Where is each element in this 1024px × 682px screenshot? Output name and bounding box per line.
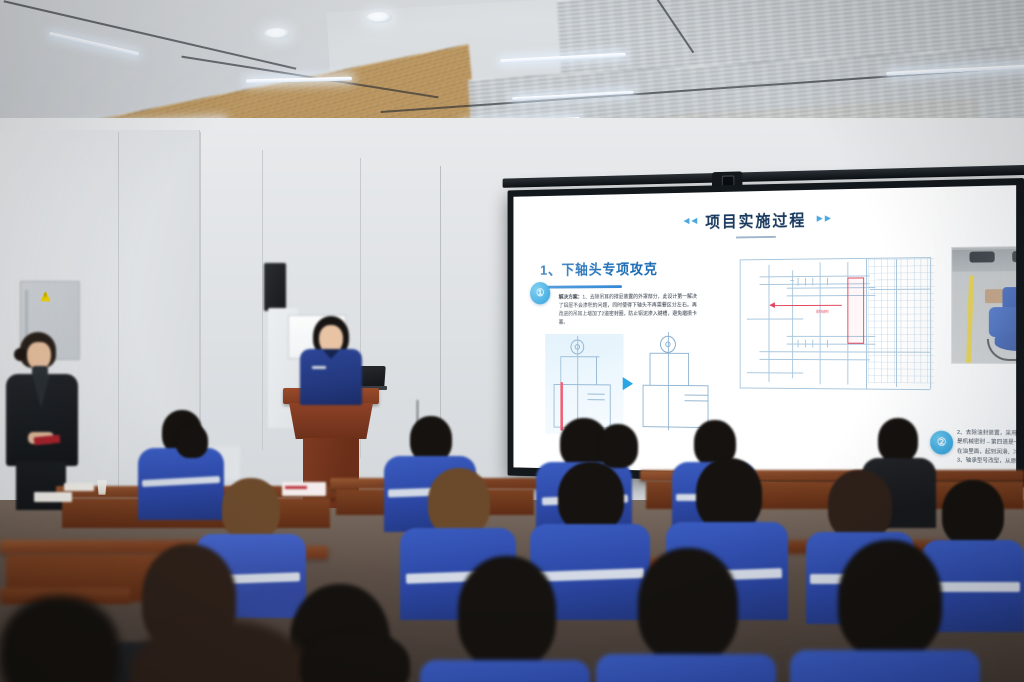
wall-speaker	[264, 263, 286, 311]
audience-head	[696, 458, 762, 530]
audience-head	[878, 418, 918, 462]
audience-member	[176, 424, 210, 460]
audience-head	[176, 424, 208, 458]
audience-head	[638, 548, 738, 662]
audience-head	[558, 462, 624, 532]
audience-member	[790, 540, 980, 682]
drawing-red-annotation: 密封结构	[816, 308, 828, 313]
presenter-badge	[312, 366, 326, 369]
handout-paper	[34, 492, 72, 502]
solution-lead-in: 解决方案：	[559, 294, 583, 300]
solution-body-three: 3、轴承型号改型，从原设计的7330E、7536E更换为现型号30330、322…	[957, 458, 1016, 469]
slide-left-column: 1、下轴头专项攻克 ① 解决方案：1、去除吊耳的排尼装置的外罩部分，此设计第一解…	[527, 244, 724, 327]
double-arrow-right-icon: ►►	[815, 213, 831, 225]
section-heading: 1、下轴头专项攻克	[540, 257, 723, 279]
double-arrow-left-icon: ◄◄	[682, 215, 698, 227]
bullet-badge-one: ①	[530, 282, 550, 304]
floor-marking-line	[966, 275, 974, 364]
audience-member	[300, 630, 420, 682]
wall-seam	[262, 150, 263, 450]
audience-member	[100, 620, 320, 682]
equipment-photo	[951, 245, 1016, 364]
audience-head	[838, 540, 942, 658]
audience-head	[942, 480, 1004, 546]
solution-paragraph-one: 解决方案：1、去除吊耳的排尼装置的外罩部分，此设计第一解决了铝层不会渗积的问题，…	[559, 293, 697, 327]
solution-paragraph-two-three: 2、去除油封装置，采用多路密封保护轴头，采用4道密封结构：第一道是2个油封串联→…	[957, 429, 1016, 473]
audience-head	[300, 630, 410, 682]
audience-head	[222, 478, 280, 540]
audience-member	[420, 556, 590, 682]
wall-seam	[118, 132, 119, 512]
solution-body-two: 2、去除油封装置，采用多路密封保护轴头，采用4道密封结构：第一道是2个油封串联→…	[957, 430, 1016, 457]
audience-head	[428, 468, 490, 536]
audience-member	[596, 548, 776, 682]
improvement-arrow-icon	[623, 377, 633, 390]
podium-front-panel	[289, 403, 373, 439]
conference-room-photo: ◄◄ 项目实施过程 ►► 1、下轴头专项攻克 ① 解决方案：1、去除吊耳的排尼装…	[0, 0, 1024, 682]
slide-header: ◄◄ 项目实施过程 ►►	[527, 203, 1003, 235]
engineering-drawing-main: 密封结构	[733, 249, 942, 397]
notebook	[64, 483, 94, 491]
slide-body: 1、下轴头专项攻克 ① 解决方案：1、去除吊耳的排尼装置的外罩部分，此设计第一解…	[527, 240, 1003, 327]
audience-head	[458, 556, 556, 668]
drawing-callout-arrow	[770, 304, 841, 305]
section-heading-underline	[540, 285, 622, 288]
drawing-highlight-box	[847, 277, 864, 343]
standing-host-left	[6, 332, 78, 507]
presenter-at-podium	[300, 316, 362, 402]
audience-uniform	[596, 654, 776, 682]
slide-title: 项目实施过程	[705, 207, 806, 232]
host-hair-bun	[14, 348, 27, 361]
audience-uniform	[420, 660, 590, 682]
audience-uniform	[790, 650, 980, 682]
audience-head	[828, 470, 892, 540]
downlight	[366, 12, 392, 23]
slide-right-column: 密封结构	[724, 240, 1003, 327]
audience-head	[130, 620, 310, 682]
downlight	[264, 28, 290, 39]
title-rule	[736, 236, 776, 238]
